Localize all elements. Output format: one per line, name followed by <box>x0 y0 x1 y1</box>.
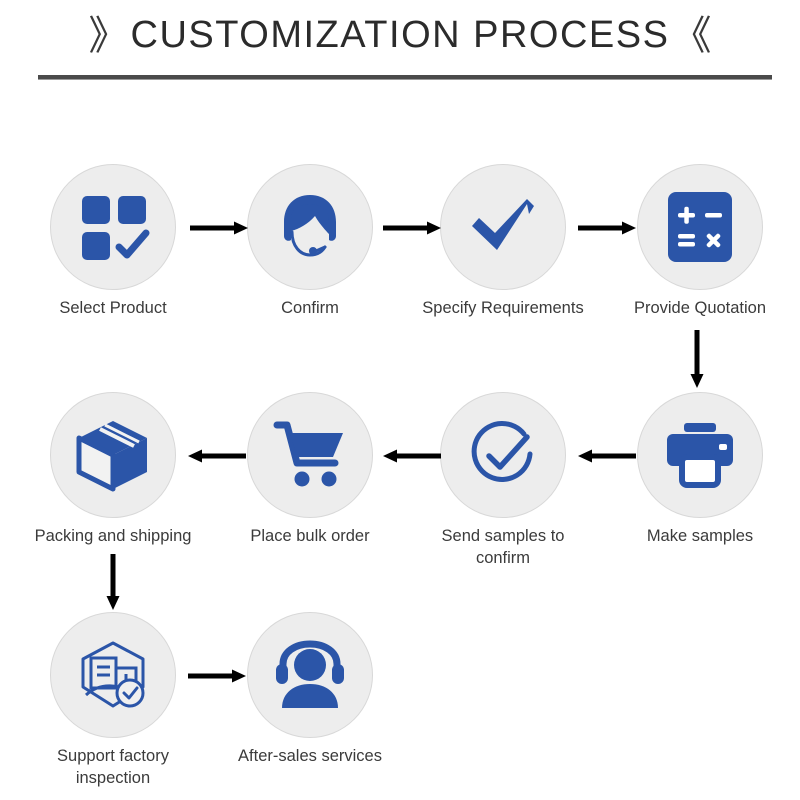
flow-node-after-sales-services[interactable]: After-sales services <box>220 612 400 767</box>
flow-connector-c1 <box>190 217 248 239</box>
flow-node-icon-circle <box>637 164 763 290</box>
flow-connector-c3 <box>578 217 636 239</box>
support-person-icon <box>271 640 349 710</box>
flow-node-icon-circle <box>50 612 176 738</box>
flow-node-label: Confirm <box>220 297 400 319</box>
flow-node-label: Place bulk order <box>220 525 400 547</box>
flow-node-icon-circle <box>440 164 566 290</box>
calculator-icon <box>665 189 735 265</box>
checkmark-icon <box>464 188 542 266</box>
shopping-cart-icon <box>271 419 349 491</box>
flow-node-label: Packing and shipping <box>23 525 203 547</box>
flow-node-packing-and-shipping[interactable]: Packing and shipping <box>23 392 203 547</box>
flow-connector-c9 <box>188 665 246 687</box>
flow-node-make-samples[interactable]: Make samples <box>610 392 790 547</box>
flow-node-label: After-sales services <box>220 745 400 767</box>
flow-node-support-factory-inspection[interactable]: Support factory inspection <box>23 612 203 789</box>
flow-node-provide-quotation[interactable]: Provide Quotation <box>610 164 790 319</box>
flow-node-select-product[interactable]: Select Product <box>23 164 203 319</box>
circle-check-icon <box>464 416 542 494</box>
flow-connector-c2 <box>383 217 441 239</box>
flow-node-icon-circle <box>247 612 373 738</box>
flow-node-icon-circle <box>50 164 176 290</box>
process-flow-diagram: Select Product Confirm Specify Requireme… <box>0 0 800 800</box>
flow-connector-c8 <box>102 554 124 610</box>
headset-agent-icon <box>272 189 348 265</box>
flow-node-icon-circle <box>247 164 373 290</box>
grid-check-icon <box>76 190 150 264</box>
flow-node-place-bulk-order[interactable]: Place bulk order <box>220 392 400 547</box>
flow-connector-c6 <box>383 445 441 467</box>
flow-node-label: Select Product <box>23 297 203 319</box>
package-box-icon <box>74 416 152 494</box>
flow-node-label: Send samples to confirm <box>413 525 593 569</box>
flow-node-label: Support factory inspection <box>23 745 203 789</box>
flow-connector-c5 <box>578 445 636 467</box>
flow-node-icon-circle <box>440 392 566 518</box>
flow-node-send-samples-to-confirm[interactable]: Send samples to confirm <box>413 392 593 569</box>
flow-node-icon-circle <box>247 392 373 518</box>
flow-node-label: Provide Quotation <box>610 297 790 319</box>
factory-shield-check-icon <box>74 638 152 712</box>
flow-node-confirm[interactable]: Confirm <box>220 164 400 319</box>
flow-connector-c7 <box>188 445 246 467</box>
flow-node-icon-circle <box>637 392 763 518</box>
flow-node-specify-requirements[interactable]: Specify Requirements <box>413 164 593 319</box>
printer-icon <box>662 421 738 489</box>
flow-node-icon-circle <box>50 392 176 518</box>
flow-node-label: Specify Requirements <box>413 297 593 319</box>
flow-node-label: Make samples <box>610 525 790 547</box>
flow-connector-c4 <box>686 330 708 388</box>
